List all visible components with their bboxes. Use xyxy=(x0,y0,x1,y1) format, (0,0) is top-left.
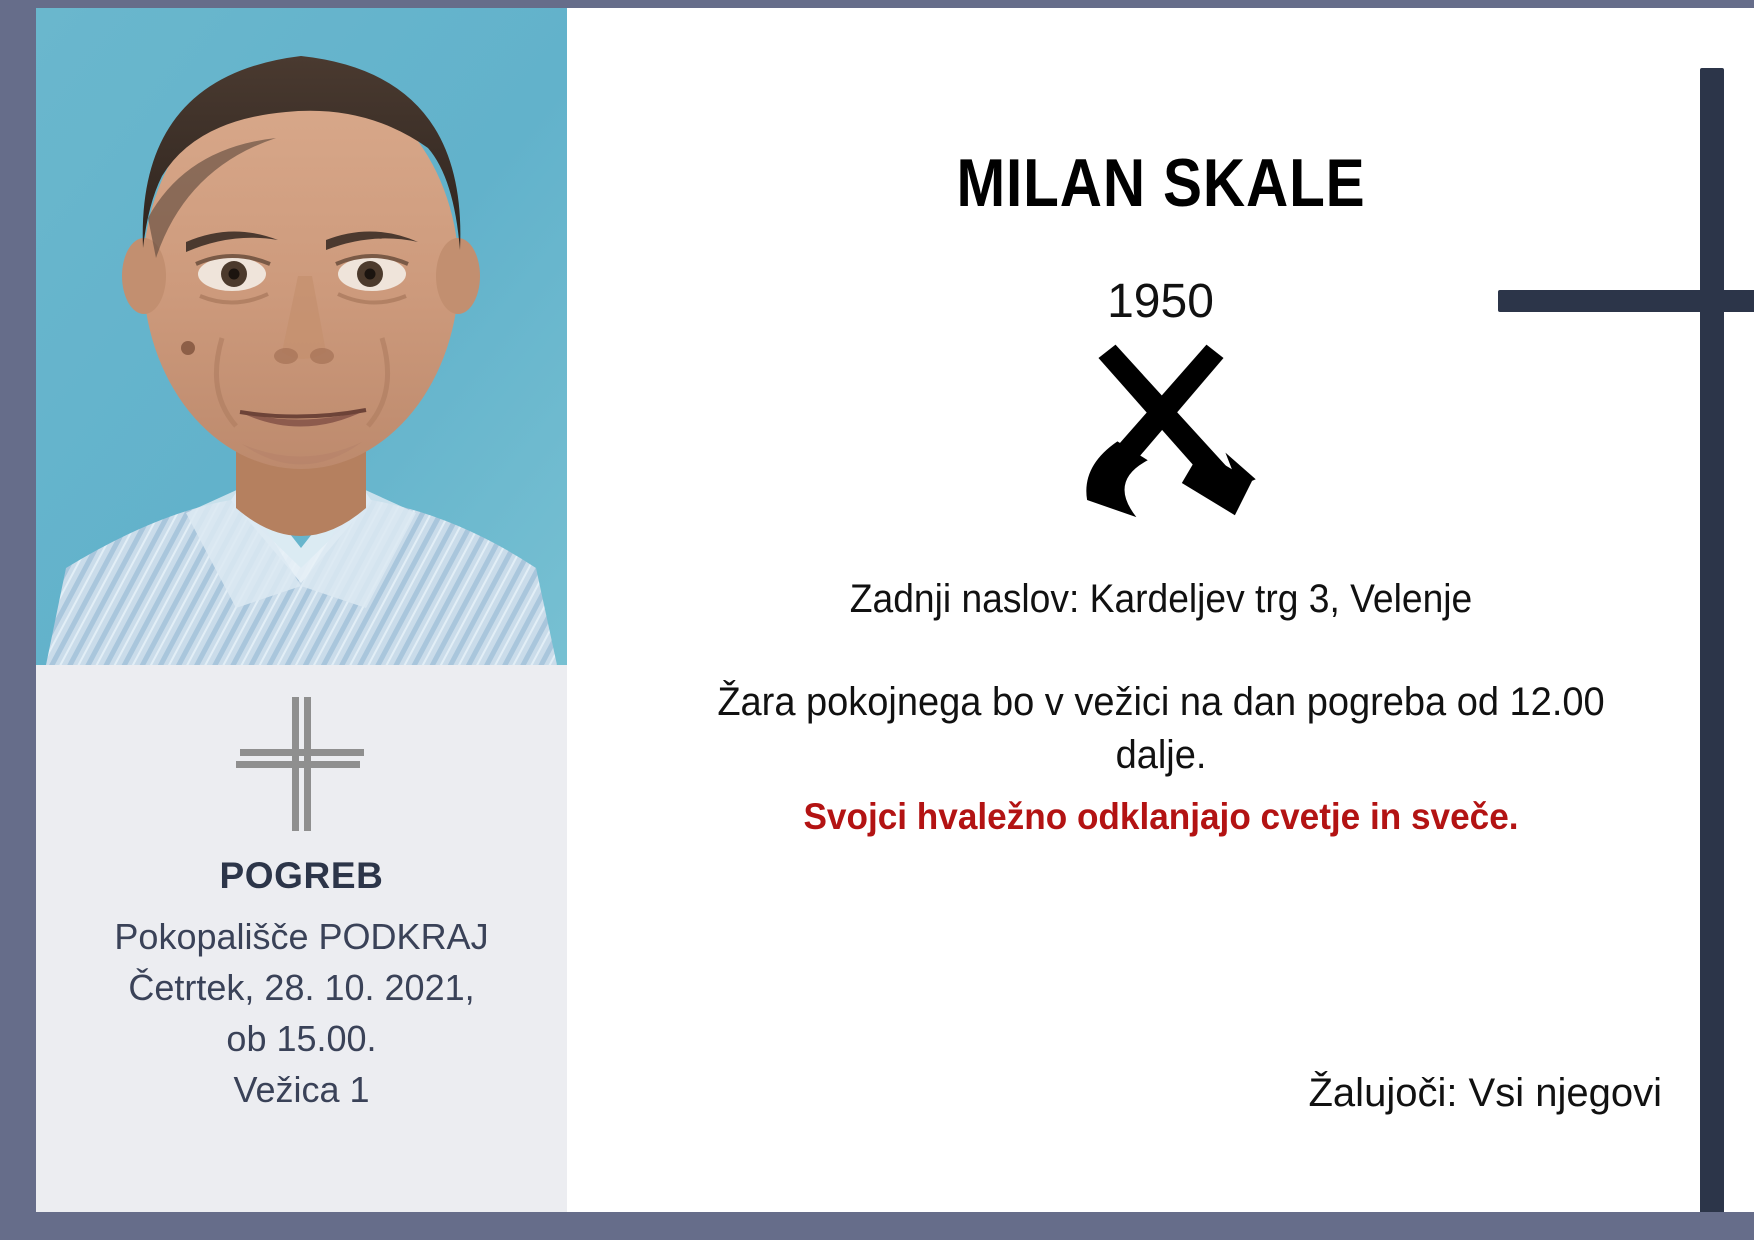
right-content: MILAN SKALE 1950 xyxy=(636,8,1686,838)
left-column: POGREB Pokopališče PODKRAJ Četrtek, 28. … xyxy=(36,8,567,1212)
funeral-details: Pokopališče PODKRAJ Četrtek, 28. 10. 202… xyxy=(114,911,488,1115)
funeral-detail-cemetery: Pokopališče PODKRAJ xyxy=(114,911,488,962)
mourners-line: Žalujoči: Vsi njegovi xyxy=(1309,1071,1663,1116)
birth-year: 1950 xyxy=(636,274,1686,329)
funeral-detail-date: Četrtek, 28. 10. 2021, xyxy=(114,962,488,1013)
deceased-name: MILAN SKALE xyxy=(709,144,1612,222)
urn-note: Žara pokojnega bo v vežici na dan pogreb… xyxy=(662,676,1660,782)
funeral-detail-time: ob 15.00. xyxy=(114,1013,488,1064)
funeral-detail-chapel: Vežica 1 xyxy=(114,1064,488,1115)
portrait-photo-illustration xyxy=(36,8,567,665)
cross-icon xyxy=(236,691,368,831)
flowers-declined-note: Svojci hvaležno odklanjajo cvetje in sve… xyxy=(662,796,1660,838)
left-info-panel: POGREB Pokopališče PODKRAJ Četrtek, 28. … xyxy=(36,665,567,1212)
crossed-hammer-and-pick-icon xyxy=(1066,339,1256,519)
obituary-frame: POGREB Pokopališče PODKRAJ Četrtek, 28. … xyxy=(0,0,1754,1240)
right-column: MILAN SKALE 1950 xyxy=(567,8,1754,1212)
crossed-hammer-and-pick-icon-glyph xyxy=(1066,339,1256,519)
large-cross-vertical-bar xyxy=(1700,68,1724,1212)
obituary-card: POGREB Pokopališče PODKRAJ Četrtek, 28. … xyxy=(36,8,1754,1212)
last-address: Zadnji naslov: Kardeljev trg 3, Velenje xyxy=(672,577,1649,622)
cross-icon-glyph xyxy=(236,691,368,831)
portrait-photo xyxy=(36,8,567,665)
funeral-heading: POGREB xyxy=(220,855,384,897)
